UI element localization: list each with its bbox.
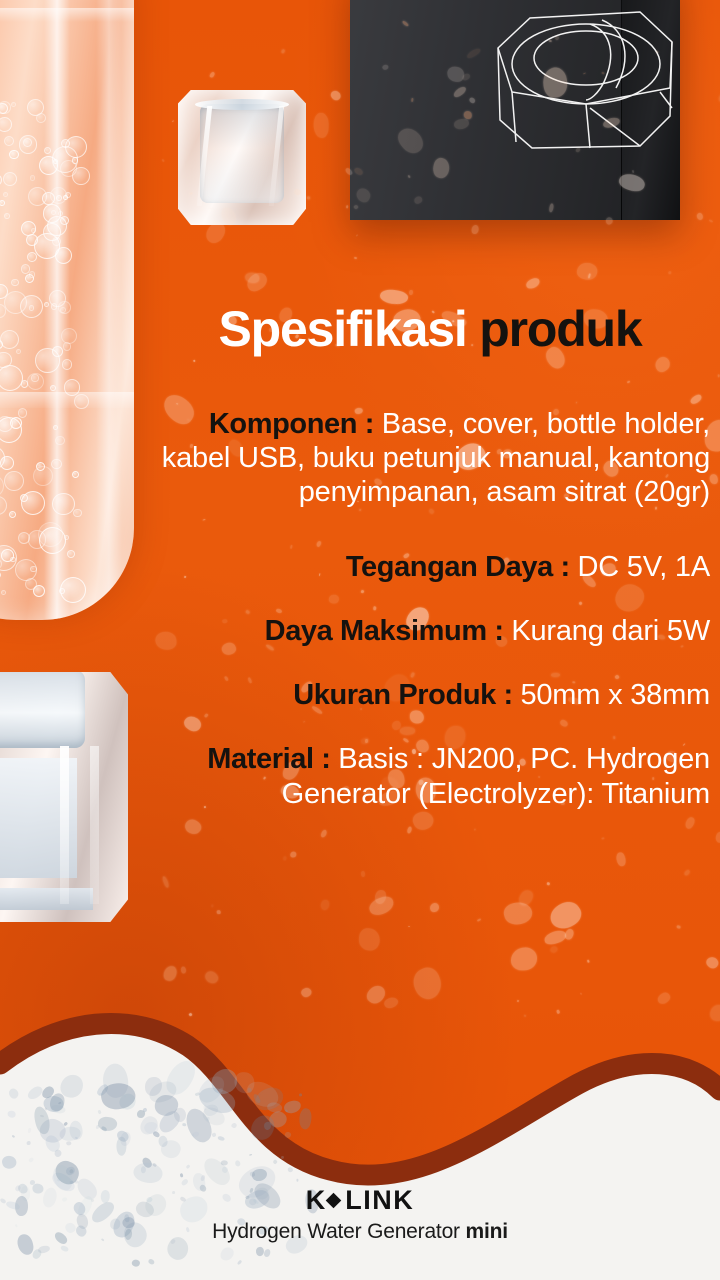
spec-value-material: Basis : JN200, PC. Hydrogen Generator (E… <box>282 743 710 809</box>
logo-letter-k: K <box>306 1187 325 1214</box>
spec-row-tegangan-daya: Tegangan Daya : DC 5V, 1A <box>150 550 710 584</box>
spec-separator: : <box>496 679 521 711</box>
device-base-glint <box>90 746 99 904</box>
tagline-regular: Hydrogen Water Generator <box>212 1220 465 1243</box>
brand-tagline: Hydrogen Water Generator mini <box>0 1220 720 1244</box>
page-title: Spesifikasi produk <box>150 304 710 355</box>
device-base-image <box>0 672 128 922</box>
title-dark: produk <box>479 301 641 357</box>
spec-label-ukuran-produk: Ukuran Produk <box>293 679 496 711</box>
spec-separator: : <box>357 408 382 440</box>
title-light: Spesifikasi <box>219 301 467 357</box>
k-link-logo: K LINK <box>0 1187 720 1214</box>
specification-block: Spesifikasi produk Komponen : Base, cove… <box>150 304 710 811</box>
acrylic-cup-image <box>178 90 306 225</box>
device-base-collar <box>0 670 85 748</box>
spec-row-daya-maksimum: Daya Maksimum : Kurang dari 5W <box>150 614 710 648</box>
device-lineart-icon <box>490 0 680 171</box>
spec-separator: : <box>487 615 512 647</box>
brand-lockup: K LINK Hydrogen Water Generator mini <box>0 1187 720 1244</box>
spec-label-material: Material <box>207 743 313 775</box>
spec-label-daya-maksimum: Daya Maksimum <box>265 615 487 647</box>
bottle-sheen <box>96 0 122 620</box>
spec-row-material: Material : Basis : JN200, PC. Hydrogen G… <box>150 742 710 810</box>
spec-row-ukuran-produk: Ukuran Produk : 50mm x 38mm <box>150 678 710 712</box>
spec-label-komponen: Komponen <box>209 408 357 440</box>
spec-value-ukuran-produk: 50mm x 38mm <box>520 679 710 711</box>
diamond-icon <box>326 1193 342 1209</box>
spec-value-daya-maksimum: Kurang dari 5W <box>511 615 710 647</box>
spec-separator: : <box>314 743 339 775</box>
spec-value-tegangan-daya: DC 5V, 1A <box>577 551 710 583</box>
spec-row-komponen: Komponen : Base, cover, bottle holder, k… <box>150 407 710 510</box>
logo-word-link: LINK <box>345 1187 414 1214</box>
product-spec-poster: Spesifikasi produk Komponen : Base, cove… <box>0 0 720 1280</box>
hydrogen-bottle-image <box>0 0 134 620</box>
spec-separator: : <box>553 551 578 583</box>
gift-box-image <box>350 0 680 220</box>
spec-label-tegangan-daya: Tegangan Daya <box>346 551 553 583</box>
device-base-glint <box>60 746 69 904</box>
tagline-bold: mini <box>465 1220 507 1243</box>
device-base-foot <box>0 888 93 910</box>
